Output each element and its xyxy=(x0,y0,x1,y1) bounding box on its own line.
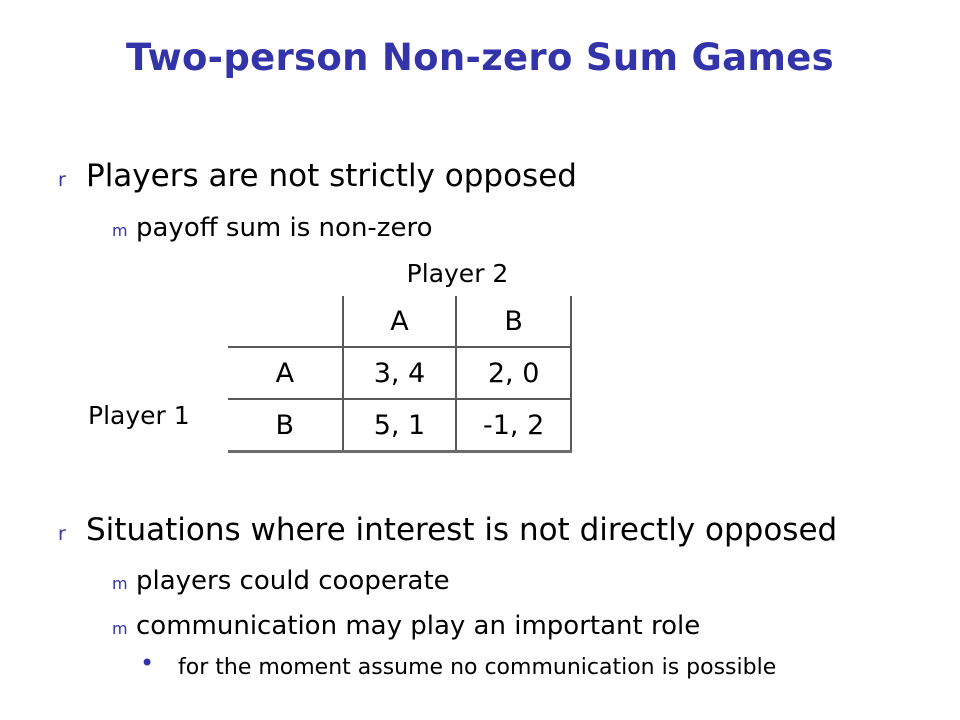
bullet-marker-icon: r xyxy=(58,169,86,191)
matrix-col-header-a: A xyxy=(343,296,457,347)
bullet-marker-icon: r xyxy=(58,523,86,545)
bullet-item-situations-interest-not-opposed: r Situations where interest is not direc… xyxy=(58,512,837,548)
matrix-cell-b-a: 5, 1 xyxy=(343,399,457,452)
bullet-text: payoff sum is non-zero xyxy=(136,213,432,243)
bullet-item-players-could-cooperate: m players could cooperate xyxy=(112,566,450,596)
bullet-text: players could cooperate xyxy=(136,566,450,596)
matrix-row-header-a: A xyxy=(228,347,343,399)
table-row: A 3, 4 2, 0 xyxy=(228,347,571,399)
bullet-text: for the moment assume no communication i… xyxy=(178,655,776,680)
bullet-marker-icon: m xyxy=(112,221,136,240)
table-header-row: A B xyxy=(228,296,571,347)
payoff-matrix-table: A B A 3, 4 2, 0 B 5, 1 -1, 2 xyxy=(228,296,572,453)
bullet-text: Situations where interest is not directl… xyxy=(86,512,837,548)
matrix-cell-b-b: -1, 2 xyxy=(456,399,571,452)
bullet-item-communication-important-role: m communication may play an important ro… xyxy=(112,611,700,641)
matrix-cell-a-b: 2, 0 xyxy=(456,347,571,399)
bullet-item-assume-no-communication: • for the moment assume no communication… xyxy=(140,655,776,680)
matrix-col-header-b: B xyxy=(456,296,571,347)
matrix-cell-a-a: 3, 4 xyxy=(343,347,457,399)
page-title: Two-person Non-zero Sum Games xyxy=(0,36,960,79)
bullet-marker-icon: m xyxy=(112,619,136,638)
bullet-marker-icon: m xyxy=(112,574,136,593)
matrix-corner-cell xyxy=(228,296,343,347)
bullet-item-payoff-sum-non-zero: m payoff sum is non-zero xyxy=(112,213,432,243)
matrix-row-player-label: Player 1 xyxy=(88,401,190,430)
bullet-text: communication may play an important role xyxy=(136,611,700,641)
table-row: B 5, 1 -1, 2 xyxy=(228,399,571,452)
matrix-row-header-b: B xyxy=(228,399,343,452)
bullet-text: Players are not strictly opposed xyxy=(86,158,577,194)
bullet-item-players-not-strictly-opposed: r Players are not strictly opposed xyxy=(58,158,577,194)
matrix-column-player-label: Player 2 xyxy=(343,259,572,288)
slide-canvas: Two-person Non-zero Sum Games r Players … xyxy=(0,0,960,720)
